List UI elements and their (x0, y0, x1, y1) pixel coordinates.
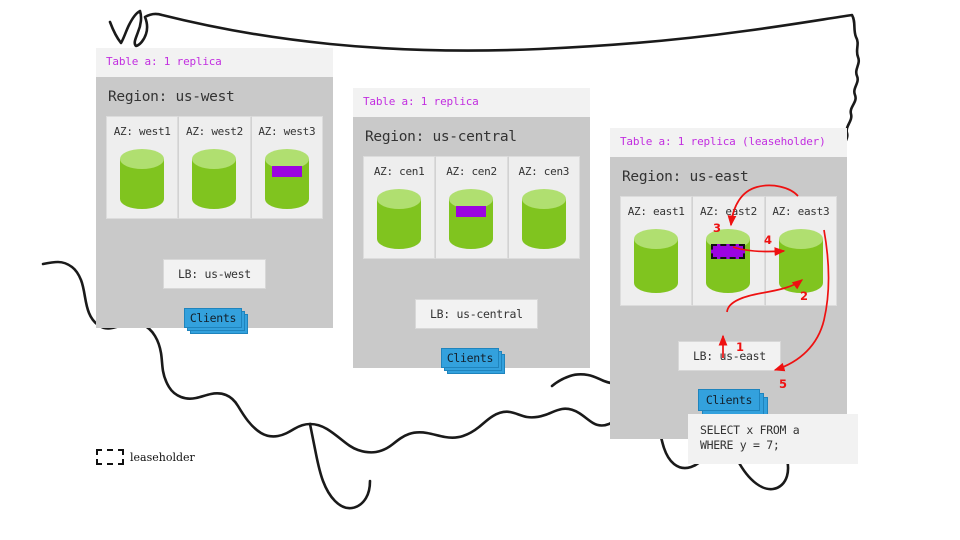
az-west3-label: AZ: west3 (258, 125, 315, 138)
panel-header-us-west: Table a: 1 replica (96, 48, 333, 77)
az-west1-cylinder (118, 147, 166, 211)
clients-us-west-label[interactable]: Clients (184, 308, 242, 328)
diagram-canvas: Table a: 1 replica Region: us-west AZ: w… (0, 0, 960, 540)
panel-body-us-central: Region: us-central AZ: cen1 AZ: cen2 (353, 117, 590, 368)
az-west3[interactable]: AZ: west3 (251, 116, 323, 219)
clients-us-east[interactable]: Clients (698, 389, 766, 415)
az-cen2-label: AZ: cen2 (446, 165, 497, 178)
az-cen3-label: AZ: cen3 (519, 165, 570, 178)
az-west2-label: AZ: west2 (186, 125, 243, 138)
az-row-us-west: AZ: west1 AZ: west2 (106, 116, 323, 219)
az-west2[interactable]: AZ: west2 (178, 116, 250, 219)
az-cen2-cylinder (447, 187, 495, 251)
az-cen3[interactable]: AZ: cen3 (508, 156, 580, 259)
az-east2[interactable]: AZ: east2 (692, 196, 764, 306)
az-east3-cylinder (777, 227, 825, 295)
az-east3-label: AZ: east3 (772, 205, 829, 218)
sql-query-box: SELECT x FROM a WHERE y = 7; (688, 414, 858, 464)
region-title-us-east: Region: us-east (610, 157, 847, 196)
az-cen1-cylinder (375, 187, 423, 251)
az-west1[interactable]: AZ: west1 (106, 116, 178, 219)
az-row-us-central: AZ: cen1 AZ: cen2 (363, 156, 580, 259)
az-west2-cylinder (190, 147, 238, 211)
az-cen2[interactable]: AZ: cen2 (435, 156, 507, 259)
az-east1[interactable]: AZ: east1 (620, 196, 692, 306)
panel-header-us-east: Table a: 1 replica (leaseholder) (610, 128, 847, 157)
az-east2-cylinder (704, 227, 752, 295)
clients-us-central[interactable]: Clients (441, 348, 503, 372)
az-east1-label: AZ: east1 (628, 205, 685, 218)
region-title-us-west: Region: us-west (96, 77, 333, 116)
az-row-us-east: AZ: east1 AZ: east2 (620, 196, 837, 306)
region-title-us-central: Region: us-central (353, 117, 590, 156)
legend-label: leaseholder (130, 451, 195, 464)
clients-us-west[interactable]: Clients (184, 308, 246, 332)
leaseholder-swatch-icon (96, 449, 124, 465)
panel-body-us-west: Region: us-west AZ: west1 AZ: west2 (96, 77, 333, 328)
az-east3[interactable]: AZ: east3 (765, 196, 837, 306)
replica-marker-west3 (272, 166, 302, 177)
lb-us-central[interactable]: LB: us-central (415, 299, 538, 329)
az-east1-cylinder (632, 227, 680, 295)
region-panel-us-west: Table a: 1 replica Region: us-west AZ: w… (96, 48, 333, 328)
az-west3-cylinder (263, 147, 311, 211)
leaseholder-marker-east2 (711, 244, 745, 259)
az-cen3-cylinder (520, 187, 568, 251)
az-cen1-label: AZ: cen1 (374, 165, 425, 178)
az-east2-label: AZ: east2 (700, 205, 757, 218)
replica-marker-cen2 (456, 206, 486, 217)
az-west1-label: AZ: west1 (114, 125, 171, 138)
region-panel-us-central: Table a: 1 replica Region: us-central AZ… (353, 88, 590, 368)
az-cen1[interactable]: AZ: cen1 (363, 156, 435, 259)
panel-header-us-central: Table a: 1 replica (353, 88, 590, 117)
lb-us-west[interactable]: LB: us-west (163, 259, 266, 289)
clients-us-east-label[interactable]: Clients (698, 389, 760, 411)
clients-us-central-label[interactable]: Clients (441, 348, 499, 368)
region-panel-us-east: Table a: 1 replica (leaseholder) Region:… (610, 128, 847, 439)
panel-body-us-east: Region: us-east AZ: east1 AZ: east2 (610, 157, 847, 439)
legend: leaseholder (96, 449, 195, 465)
lb-us-east[interactable]: LB: us-east (678, 341, 781, 371)
